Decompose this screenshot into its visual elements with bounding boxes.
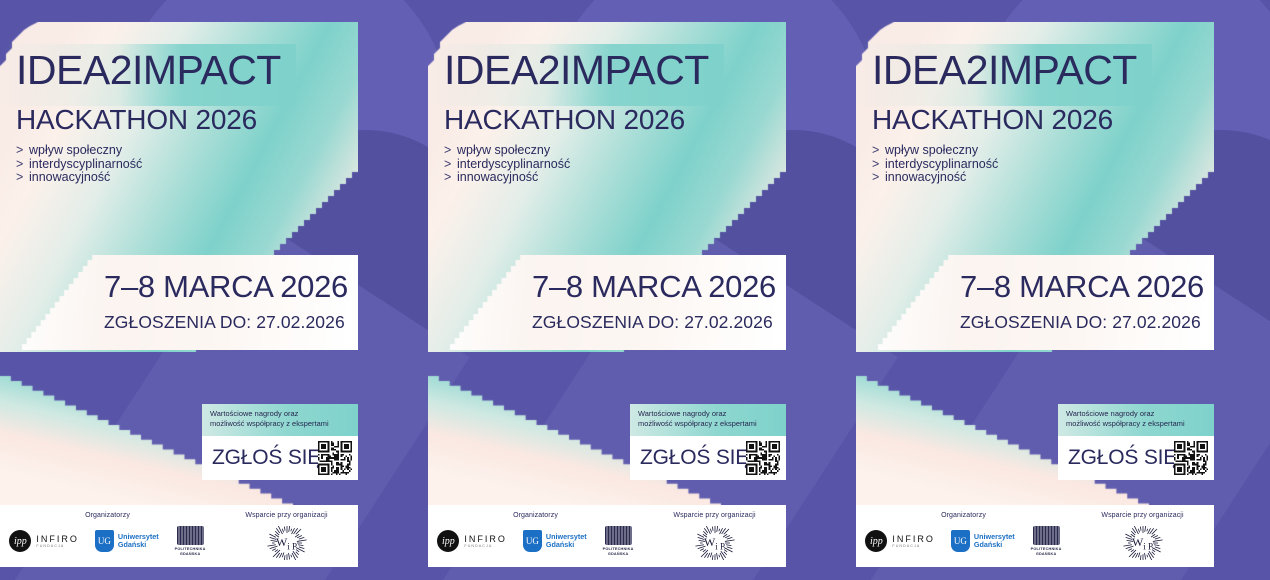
logo-uniwersytet-gdanski[interactable]: UG Uniwersytet Gdański bbox=[523, 530, 587, 552]
ug-sub: Gdański bbox=[118, 541, 159, 550]
support-caption: Wsparcie przy organizacji bbox=[245, 512, 327, 519]
date-panel: 7–8 MARCA 2026 ZGŁOSZENIA DO: 27.02.2026 bbox=[428, 255, 786, 350]
organizers-caption: Organizatorzy bbox=[85, 512, 130, 519]
event-date: 7–8 MARCA 2026 bbox=[532, 271, 776, 302]
cta-note-line-1: Wartościowe nagrody oraz bbox=[210, 409, 358, 419]
infiro-name: INFIRO bbox=[892, 534, 935, 544]
ug-sub: Gdański bbox=[974, 541, 1015, 550]
organizer-logos: ipp INFIRO FUNDACJA UG Uniwersytet Gdańs… bbox=[865, 526, 1061, 556]
submission-deadline: ZGŁOSZENIA DO: 27.02.2026 bbox=[532, 314, 773, 332]
bullet-label: wpływ społeczny bbox=[457, 143, 550, 157]
cta-note-line-1: Wartościowe nagrody oraz bbox=[1066, 409, 1214, 419]
pg-crest-icon bbox=[1033, 526, 1060, 545]
bullet-label: wpływ społeczny bbox=[29, 143, 122, 157]
poster-bullet-list: >wpływ społeczny >interdyscyplinarność >… bbox=[872, 144, 998, 185]
logo-infiro[interactable]: ipp INFIRO FUNDACJA bbox=[865, 530, 935, 552]
cta-note: Wartościowe nagrody oraz możliwość współ… bbox=[1058, 404, 1214, 436]
chevron-right-icon: > bbox=[16, 144, 29, 158]
chevron-right-icon: > bbox=[872, 158, 885, 172]
organizers-group: Organizatorzy ipp INFIRO FUNDACJA UG Uni… bbox=[0, 505, 215, 567]
poster-card[interactable]: IDEA2IMPACT HACKATHON 2026 >wpływ społec… bbox=[0, 0, 358, 580]
chevron-right-icon: > bbox=[872, 171, 885, 185]
event-date: 7–8 MARCA 2026 bbox=[960, 271, 1204, 302]
cta-block[interactable]: Wartościowe nagrody oraz możliwość współ… bbox=[1058, 404, 1214, 480]
list-item: >wpływ społeczny bbox=[16, 144, 142, 158]
wip-mark-sub: i P bbox=[287, 541, 297, 551]
qr-code-icon[interactable] bbox=[1174, 441, 1208, 475]
submission-deadline: ZGŁOSZENIA DO: 27.02.2026 bbox=[104, 314, 345, 332]
logo-uniwersytet-gdanski[interactable]: UG Uniwersytet Gdański bbox=[951, 530, 1015, 552]
logo-politechnika-gdanska[interactable]: POLITECHNIKA GDAŃSKA bbox=[603, 526, 634, 556]
ug-crest-icon: UG bbox=[523, 530, 542, 552]
chevron-right-icon: > bbox=[16, 158, 29, 172]
poster-card[interactable]: IDEA2IMPACT HACKATHON 2026 >wpływ społec… bbox=[428, 0, 786, 580]
ug-sub: Gdański bbox=[546, 541, 587, 550]
wip-mark-sub: i P bbox=[715, 541, 725, 551]
organizers-group: Organizatorzy ipp INFIRO FUNDACJA UG Uni… bbox=[856, 505, 1071, 567]
bullet-label: interdyscyplinarność bbox=[29, 157, 142, 171]
cta-note: Wartościowe nagrody oraz możliwość współ… bbox=[202, 404, 358, 436]
poster-card[interactable]: IDEA2IMPACT HACKATHON 2026 >wpływ społec… bbox=[856, 0, 1214, 580]
ug-crest-icon: UG bbox=[951, 530, 970, 552]
logo-politechnika-gdanska[interactable]: POLITECHNIKA GDAŃSKA bbox=[175, 526, 206, 556]
organizer-logos: ipp INFIRO FUNDACJA UG Uniwersytet Gdańs… bbox=[9, 526, 205, 556]
logo-politechnika-gdanska[interactable]: POLITECHNIKA GDAŃSKA bbox=[1031, 526, 1062, 556]
poster-bullet-list: >wpływ społeczny >interdyscyplinarność >… bbox=[16, 144, 142, 185]
support-logos: Wi P bbox=[695, 526, 735, 560]
support-logos: Wi P bbox=[267, 526, 307, 560]
cta-button-label: ZGŁOŚ SIĘ bbox=[1058, 446, 1177, 470]
pg-sub: GDAŃSKA bbox=[608, 552, 629, 557]
wip-mark-sub: i P bbox=[1143, 541, 1153, 551]
bullet-label: wpływ społeczny bbox=[885, 143, 978, 157]
submission-deadline: ZGŁOSZENIA DO: 27.02.2026 bbox=[960, 314, 1201, 332]
list-item: >innowacyjność bbox=[872, 171, 998, 185]
cta-note-line-1: Wartościowe nagrody oraz bbox=[638, 409, 786, 419]
poster-subtitle: HACKATHON 2026 bbox=[872, 106, 1113, 134]
list-item: >interdyscyplinarność bbox=[872, 158, 998, 172]
infiro-name: INFIRO bbox=[464, 534, 507, 544]
bullet-label: innowacyjność bbox=[885, 170, 966, 184]
cta-note-line-2: możliwość współpracy z ekspertami bbox=[1066, 419, 1214, 429]
infiro-name: INFIRO bbox=[36, 534, 79, 544]
support-logos: Wi P bbox=[1123, 526, 1163, 560]
page-title: IDEA2IMPACT bbox=[16, 50, 281, 91]
list-item: >innowacyjność bbox=[16, 171, 142, 185]
list-item: >wpływ społeczny bbox=[444, 144, 570, 158]
infiro-mark-icon: ipp bbox=[865, 530, 887, 552]
list-item: >interdyscyplinarność bbox=[16, 158, 142, 172]
bullet-label: innowacyjność bbox=[457, 170, 538, 184]
bullet-label: innowacyjność bbox=[29, 170, 110, 184]
cta-button-label: ZGŁOŚ SIĘ bbox=[202, 446, 321, 470]
cta-block[interactable]: Wartościowe nagrody oraz możliwość współ… bbox=[630, 404, 786, 480]
logo-infiro[interactable]: ipp INFIRO FUNDACJA bbox=[437, 530, 507, 552]
logo-wip[interactable]: Wi P bbox=[695, 526, 735, 560]
cta-block[interactable]: Wartościowe nagrody oraz możliwość współ… bbox=[202, 404, 358, 480]
logo-infiro[interactable]: ipp INFIRO FUNDACJA bbox=[9, 530, 79, 552]
cta-note: Wartościowe nagrody oraz możliwość współ… bbox=[630, 404, 786, 436]
infiro-mark-icon: ipp bbox=[9, 530, 31, 552]
support-group: Wsparcie przy organizacji Wi P bbox=[643, 505, 786, 567]
pg-sub: GDAŃSKA bbox=[180, 552, 201, 557]
partners-footer: Organizatorzy ipp INFIRO FUNDACJA UG Uni… bbox=[428, 505, 786, 567]
wip-mark: W bbox=[276, 535, 287, 549]
cta-button-label: ZGŁOŚ SIĘ bbox=[630, 446, 749, 470]
wip-mark: W bbox=[704, 535, 715, 549]
date-panel: 7–8 MARCA 2026 ZGŁOSZENIA DO: 27.02.2026 bbox=[0, 255, 358, 350]
logo-uniwersytet-gdanski[interactable]: UG Uniwersytet Gdański bbox=[95, 530, 159, 552]
support-caption: Wsparcie przy organizacji bbox=[1101, 512, 1183, 519]
chevron-right-icon: > bbox=[16, 171, 29, 185]
cta-note-line-2: możliwość współpracy z ekspertami bbox=[210, 419, 358, 429]
date-panel: 7–8 MARCA 2026 ZGŁOSZENIA DO: 27.02.2026 bbox=[856, 255, 1214, 350]
infiro-sub: FUNDACJA bbox=[464, 544, 507, 549]
infiro-sub: FUNDACJA bbox=[892, 544, 935, 549]
pg-sub: GDAŃSKA bbox=[1036, 552, 1057, 557]
support-group: Wsparcie przy organizacji Wi P bbox=[1071, 505, 1214, 567]
chevron-right-icon: > bbox=[444, 171, 457, 185]
logo-wip[interactable]: Wi P bbox=[1123, 526, 1163, 560]
chevron-right-icon: > bbox=[872, 144, 885, 158]
organizers-group: Organizatorzy ipp INFIRO FUNDACJA UG Uni… bbox=[428, 505, 643, 567]
poster-subtitle: HACKATHON 2026 bbox=[444, 106, 685, 134]
poster-subtitle: HACKATHON 2026 bbox=[16, 106, 257, 134]
list-item: >wpływ społeczny bbox=[872, 144, 998, 158]
page-title: IDEA2IMPACT bbox=[444, 50, 709, 91]
support-caption: Wsparcie przy organizacji bbox=[673, 512, 755, 519]
logo-wip[interactable]: Wi P bbox=[267, 526, 307, 560]
organizers-caption: Organizatorzy bbox=[941, 512, 986, 519]
cta-note-line-2: możliwość współpracy z ekspertami bbox=[638, 419, 786, 429]
event-date: 7–8 MARCA 2026 bbox=[104, 271, 348, 302]
bullet-label: interdyscyplinarność bbox=[885, 157, 998, 171]
support-group: Wsparcie przy organizacji Wi P bbox=[215, 505, 358, 567]
pg-crest-icon bbox=[177, 526, 204, 545]
wip-mark: W bbox=[1132, 535, 1143, 549]
ug-crest-icon: UG bbox=[95, 530, 114, 552]
poster-bullet-list: >wpływ społeczny >interdyscyplinarność >… bbox=[444, 144, 570, 185]
qr-code-icon[interactable] bbox=[746, 441, 780, 475]
cta-button[interactable]: ZGŁOŚ SIĘ bbox=[1058, 436, 1214, 480]
list-item: >innowacyjność bbox=[444, 171, 570, 185]
organizer-logos: ipp INFIRO FUNDACJA UG Uniwersytet Gdańs… bbox=[437, 526, 633, 556]
partners-footer: Organizatorzy ipp INFIRO FUNDACJA UG Uni… bbox=[856, 505, 1214, 567]
poster-strip: IDEA2IMPACT HACKATHON 2026 >wpływ społec… bbox=[0, 0, 1270, 580]
cta-button[interactable]: ZGŁOŚ SIĘ bbox=[202, 436, 358, 480]
list-item: >interdyscyplinarność bbox=[444, 158, 570, 172]
page-title: IDEA2IMPACT bbox=[872, 50, 1137, 91]
partners-footer: Organizatorzy ipp INFIRO FUNDACJA UG Uni… bbox=[0, 505, 358, 567]
pg-crest-icon bbox=[605, 526, 632, 545]
infiro-sub: FUNDACJA bbox=[36, 544, 79, 549]
bullet-label: interdyscyplinarność bbox=[457, 157, 570, 171]
chevron-right-icon: > bbox=[444, 158, 457, 172]
qr-code-icon[interactable] bbox=[318, 441, 352, 475]
cta-button[interactable]: ZGŁOŚ SIĘ bbox=[630, 436, 786, 480]
infiro-mark-icon: ipp bbox=[437, 530, 459, 552]
chevron-right-icon: > bbox=[444, 144, 457, 158]
organizers-caption: Organizatorzy bbox=[513, 512, 558, 519]
